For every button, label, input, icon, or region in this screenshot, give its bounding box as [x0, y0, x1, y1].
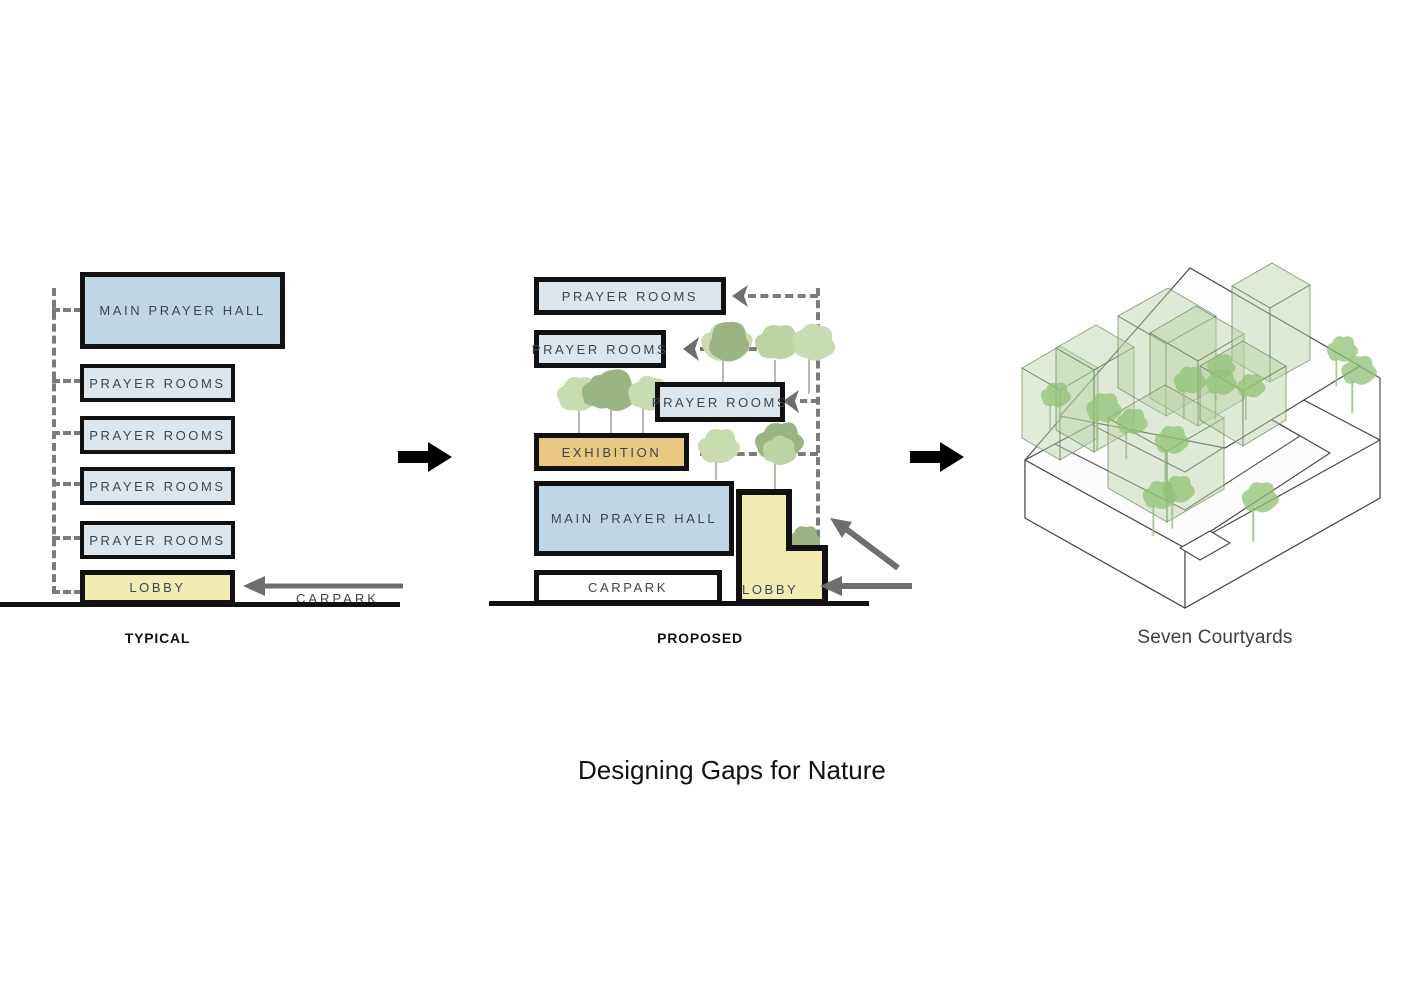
box-main-prayer-hall[interactable]: MAIN PRAYER HALL	[534, 481, 734, 556]
panel-label-proposed: PROPOSED	[600, 630, 800, 646]
box-prayer-rooms-4[interactable]: PRAYER ROOMS	[80, 521, 235, 559]
box-prayer-rooms-3[interactable]: PRAYER ROOMS	[80, 467, 235, 505]
box-prayer-rooms-2[interactable]: PRAYER ROOMS	[534, 330, 666, 368]
seven-courtyards-axon	[1000, 248, 1400, 628]
ground-line-typical	[0, 602, 400, 607]
box-prayer-rooms-2[interactable]: PRAYER ROOMS	[80, 416, 235, 454]
box-lobby-label: LOBBY	[742, 582, 798, 597]
box-lobby[interactable]: LOBBY	[80, 570, 235, 605]
box-carpark[interactable]: CARPARK	[534, 570, 722, 605]
lobby-access-arrow-diagonal	[820, 512, 910, 572]
panel-label-axonometric: Seven Courtyards	[1090, 627, 1340, 649]
main-caption: Designing Gaps for Nature	[578, 755, 886, 786]
box-prayer-rooms-1[interactable]: PRAYER ROOMS	[80, 364, 235, 402]
box-exhibition[interactable]: EXHIBITION	[534, 433, 689, 471]
tree-cluster-exhibition	[693, 428, 743, 480]
box-prayer-rooms-3[interactable]: PRAYER ROOMS	[655, 382, 785, 422]
transition-arrow-1	[398, 442, 454, 472]
box-main-prayer-hall[interactable]: MAIN PRAYER HALL	[80, 272, 285, 349]
transition-arrow-2	[910, 442, 966, 472]
ground-line-proposed	[489, 601, 869, 606]
panel-label-typical: TYPICAL	[60, 630, 255, 646]
lobby-access-arrow-horizontal	[820, 575, 915, 597]
box-prayer-rooms-1[interactable]: PRAYER ROOMS	[534, 277, 726, 315]
